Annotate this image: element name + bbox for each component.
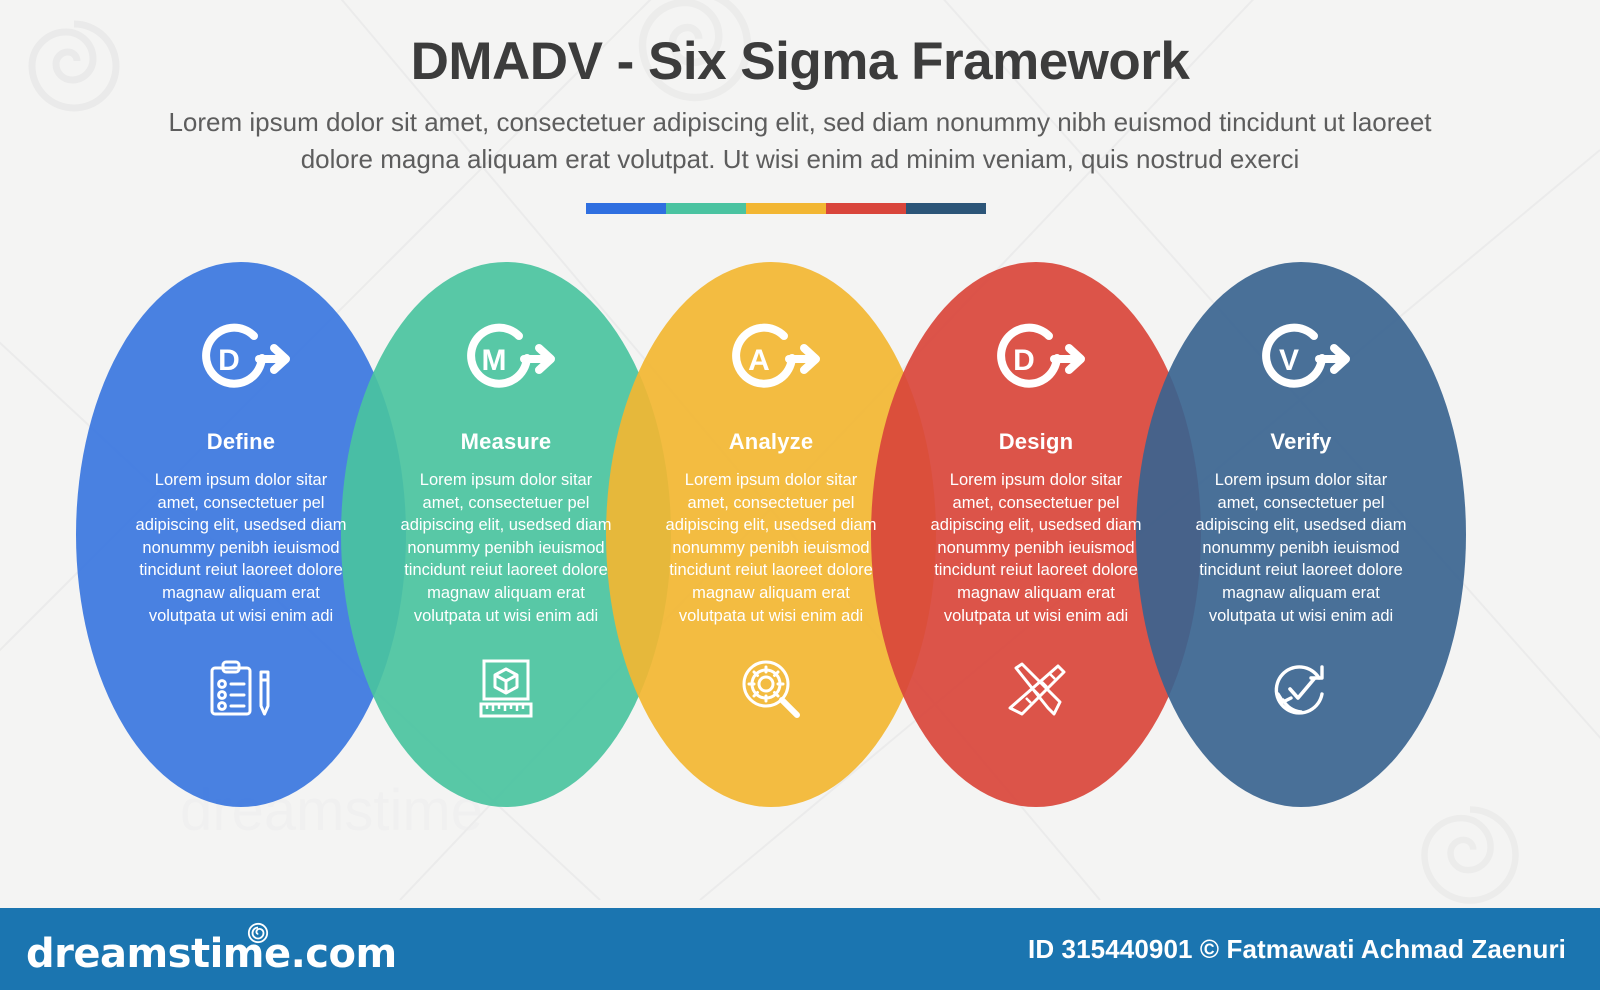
svg-text:D: D: [1013, 344, 1035, 377]
stage-title: Measure: [461, 429, 552, 455]
stage-description: Lorem ipsum dolor sitar amet, consectetu…: [930, 469, 1142, 627]
stage-description: Lorem ipsum dolor sitar amet, consectetu…: [135, 469, 347, 627]
image-credit: ID 315440901 © Fatmawati Achmad Zaenuri: [1028, 934, 1566, 965]
color-bar-segment-2: [666, 203, 746, 214]
pencil-ruler-cross-icon: [1004, 657, 1068, 721]
dreamstime-logo[interactable]: dreamstime.com: [26, 922, 269, 977]
stage-letter-arrow-icon: A: [712, 316, 830, 404]
stage-letter-arrow-icon: D: [977, 316, 1095, 404]
clipboard-checklist-pencil-icon: [208, 657, 274, 721]
svg-text:M: M: [482, 344, 507, 377]
refresh-check-icon: [1270, 657, 1332, 721]
stage-content-verify: V Verify Lorem ipsum dolor sitar amet, c…: [1136, 262, 1466, 807]
stage-title: Verify: [1270, 429, 1331, 455]
color-bar-segment-5: [906, 203, 986, 214]
spiral-registered-icon: [247, 922, 269, 949]
stage-description: Lorem ipsum dolor sitar amet, consectetu…: [665, 469, 877, 627]
stage-letter-arrow-icon: M: [447, 316, 565, 404]
svg-text:A: A: [748, 344, 770, 377]
stage-letter-arrow-icon: D: [182, 316, 300, 404]
color-bar-segment-1: [586, 203, 666, 214]
page-title: DMADV - Six Sigma Framework: [0, 34, 1600, 90]
infographic-canvas: dreamstime DMADV - Six Sigma Framework L…: [0, 0, 1600, 990]
color-bar-segment-4: [826, 203, 906, 214]
stage-title: Analyze: [729, 429, 814, 455]
header: DMADV - Six Sigma Framework Lorem ipsum …: [0, 0, 1600, 177]
watermark-spiral: [1405, 790, 1535, 920]
color-divider-bar: [586, 203, 986, 214]
magnifier-gear-icon: [740, 657, 802, 721]
svg-text:D: D: [218, 344, 240, 377]
svg-text:V: V: [1279, 344, 1299, 377]
cube-ruler-measure-icon: [475, 657, 537, 721]
dreamstime-logo-text: dreamstime.com: [26, 931, 397, 977]
stage-letter-arrow-icon: V: [1242, 316, 1360, 404]
page-subtitle: Lorem ipsum dolor sit amet, consectetuer…: [135, 104, 1465, 178]
stage-title: Define: [207, 429, 275, 455]
color-bar-segment-3: [746, 203, 826, 214]
stage-ellipse-row: D Define Lorem ipsum dolor sitar amet, c…: [0, 262, 1600, 807]
stage-description: Lorem ipsum dolor sitar amet, consectetu…: [1195, 469, 1407, 627]
stage-description: Lorem ipsum dolor sitar amet, consectetu…: [400, 469, 612, 627]
stage-title: Design: [999, 429, 1074, 455]
footer-bar: dreamstime.com ID 315440901 © Fatmawati …: [0, 908, 1600, 990]
